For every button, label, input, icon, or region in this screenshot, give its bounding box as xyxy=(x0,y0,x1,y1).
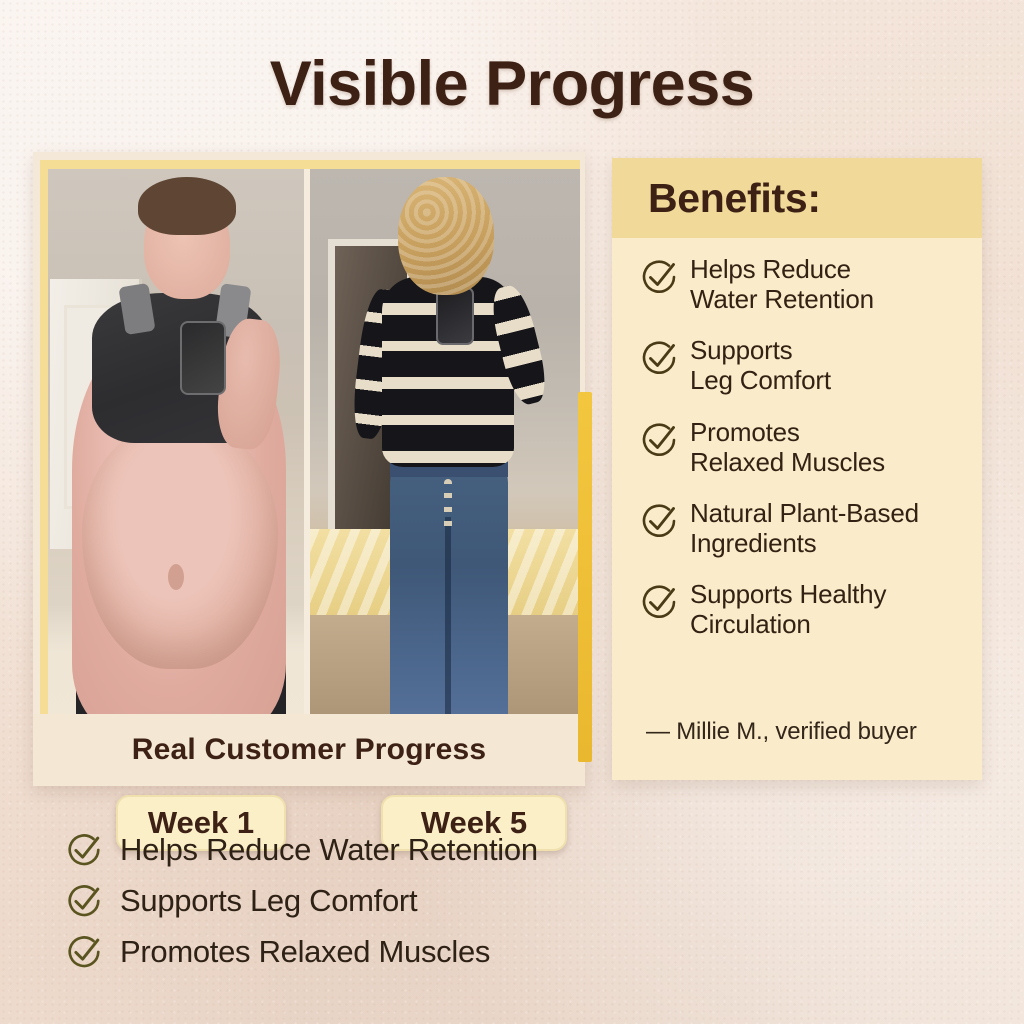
benefit-item: Natural Plant-Based Ingredients xyxy=(638,498,964,558)
testimonial-attribution: — Millie M., verified buyer xyxy=(646,718,917,746)
after-photo xyxy=(310,169,580,725)
benefit-label: Supports Healthy Circulation xyxy=(690,579,886,639)
before-after-card: Week 1 Week 5 xyxy=(33,152,585,786)
promo-graphic: Visible Progress xyxy=(0,0,1024,1024)
benefit-label: Promotes Relaxed Muscles xyxy=(690,417,885,477)
check-circle-icon xyxy=(638,256,684,298)
bottom-list-item: Supports Leg Comfort xyxy=(64,881,764,921)
benefit-label: Supports Leg Comfort xyxy=(690,335,831,395)
bottom-list-label: Helps Reduce Water Retention xyxy=(120,832,538,868)
check-circle-icon xyxy=(638,581,684,623)
benefit-item: Supports Leg Comfort xyxy=(638,335,964,395)
check-circle-icon xyxy=(638,337,684,379)
check-circle-icon xyxy=(64,932,108,972)
before-navel xyxy=(168,564,184,590)
bottom-list-label: Supports Leg Comfort xyxy=(120,883,417,919)
bottom-list-item: Helps Reduce Water Retention xyxy=(64,830,764,870)
after-phone xyxy=(436,287,474,345)
bottom-list-item: Promotes Relaxed Muscles xyxy=(64,932,764,972)
page-title: Visible Progress xyxy=(0,48,1024,120)
check-circle-icon xyxy=(638,500,684,542)
benefits-header-band: Benefits: xyxy=(612,158,982,238)
benefit-item: Promotes Relaxed Muscles xyxy=(638,417,964,477)
after-button-fly xyxy=(444,479,452,535)
before-midsection xyxy=(82,419,278,669)
gold-accent-bar xyxy=(578,392,592,762)
before-photo xyxy=(48,169,304,725)
benefits-panel: Benefits: Helps Reduce Water Retention xyxy=(612,158,982,780)
check-circle-icon xyxy=(638,419,684,461)
after-hair xyxy=(398,177,494,295)
check-circle-icon xyxy=(64,881,108,921)
benefit-label: Helps Reduce Water Retention xyxy=(690,254,874,314)
bottom-feature-list: Helps Reduce Water Retention Supports Le… xyxy=(64,830,764,983)
benefit-item: Helps Reduce Water Retention xyxy=(638,254,964,314)
card-caption: Real Customer Progress xyxy=(33,714,585,786)
before-phone xyxy=(180,321,226,395)
benefit-label: Natural Plant-Based Ingredients xyxy=(690,498,919,558)
benefits-title: Benefits: xyxy=(648,175,821,222)
benefit-item: Supports Healthy Circulation xyxy=(638,579,964,639)
bottom-list-label: Promotes Relaxed Muscles xyxy=(120,934,490,970)
before-hair xyxy=(138,177,236,235)
photo-pair xyxy=(48,169,580,725)
benefits-list: Helps Reduce Water Retention Supports Le… xyxy=(612,254,982,661)
check-circle-icon xyxy=(64,830,108,870)
